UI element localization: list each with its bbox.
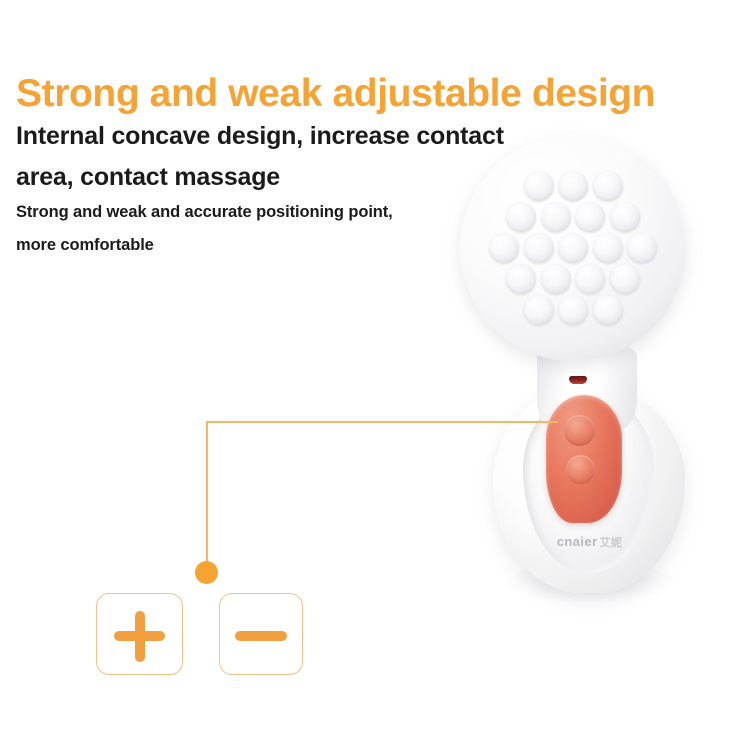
minus-icon (235, 631, 287, 641)
massage-nub (524, 295, 554, 325)
decrease-button[interactable] (219, 593, 303, 675)
massage-nub (558, 233, 588, 263)
brand-logo-cn: 艾妮 (599, 537, 622, 549)
massager-control-pad[interactable] (546, 395, 622, 523)
massage-nub (627, 233, 657, 263)
brand-logo-text: cnaier (557, 534, 598, 549)
massage-nub (558, 295, 588, 325)
device-button-upper[interactable] (564, 415, 595, 446)
massage-nub (593, 295, 623, 325)
massage-nub (506, 202, 536, 232)
detail-line-1: Strong and weak and accurate positioning… (16, 203, 393, 222)
massage-nub (524, 233, 554, 263)
plus-icon-stroke (135, 611, 145, 662)
massage-nub (610, 202, 640, 232)
power-indicator-icon (569, 376, 587, 384)
detail-line-2: more comfortable (16, 236, 154, 255)
increase-button[interactable] (96, 593, 183, 675)
massage-nub (506, 264, 536, 294)
massage-nub (575, 202, 605, 232)
massage-nub (524, 171, 554, 201)
brand-logo: cnaier艾妮 (527, 534, 652, 550)
subheading-line-2: area, contact massage (16, 163, 280, 192)
callout-dot (195, 561, 218, 584)
massage-nub (558, 171, 588, 201)
massage-nub (541, 202, 571, 232)
product-image-massager: cnaier艾妮 (415, 110, 735, 620)
product-feature-banner: Strong and weak adjustable design Intern… (0, 0, 750, 750)
massage-nub (610, 264, 640, 294)
massage-head (460, 135, 686, 361)
massage-nub (489, 233, 519, 263)
callout-leader-vertical (206, 421, 208, 567)
massage-nub (593, 171, 623, 201)
massage-nub (541, 264, 571, 294)
massage-nub (593, 233, 623, 263)
device-button-lower[interactable] (566, 455, 595, 484)
callout-leader-horizontal (206, 421, 558, 423)
massage-nub (575, 264, 605, 294)
